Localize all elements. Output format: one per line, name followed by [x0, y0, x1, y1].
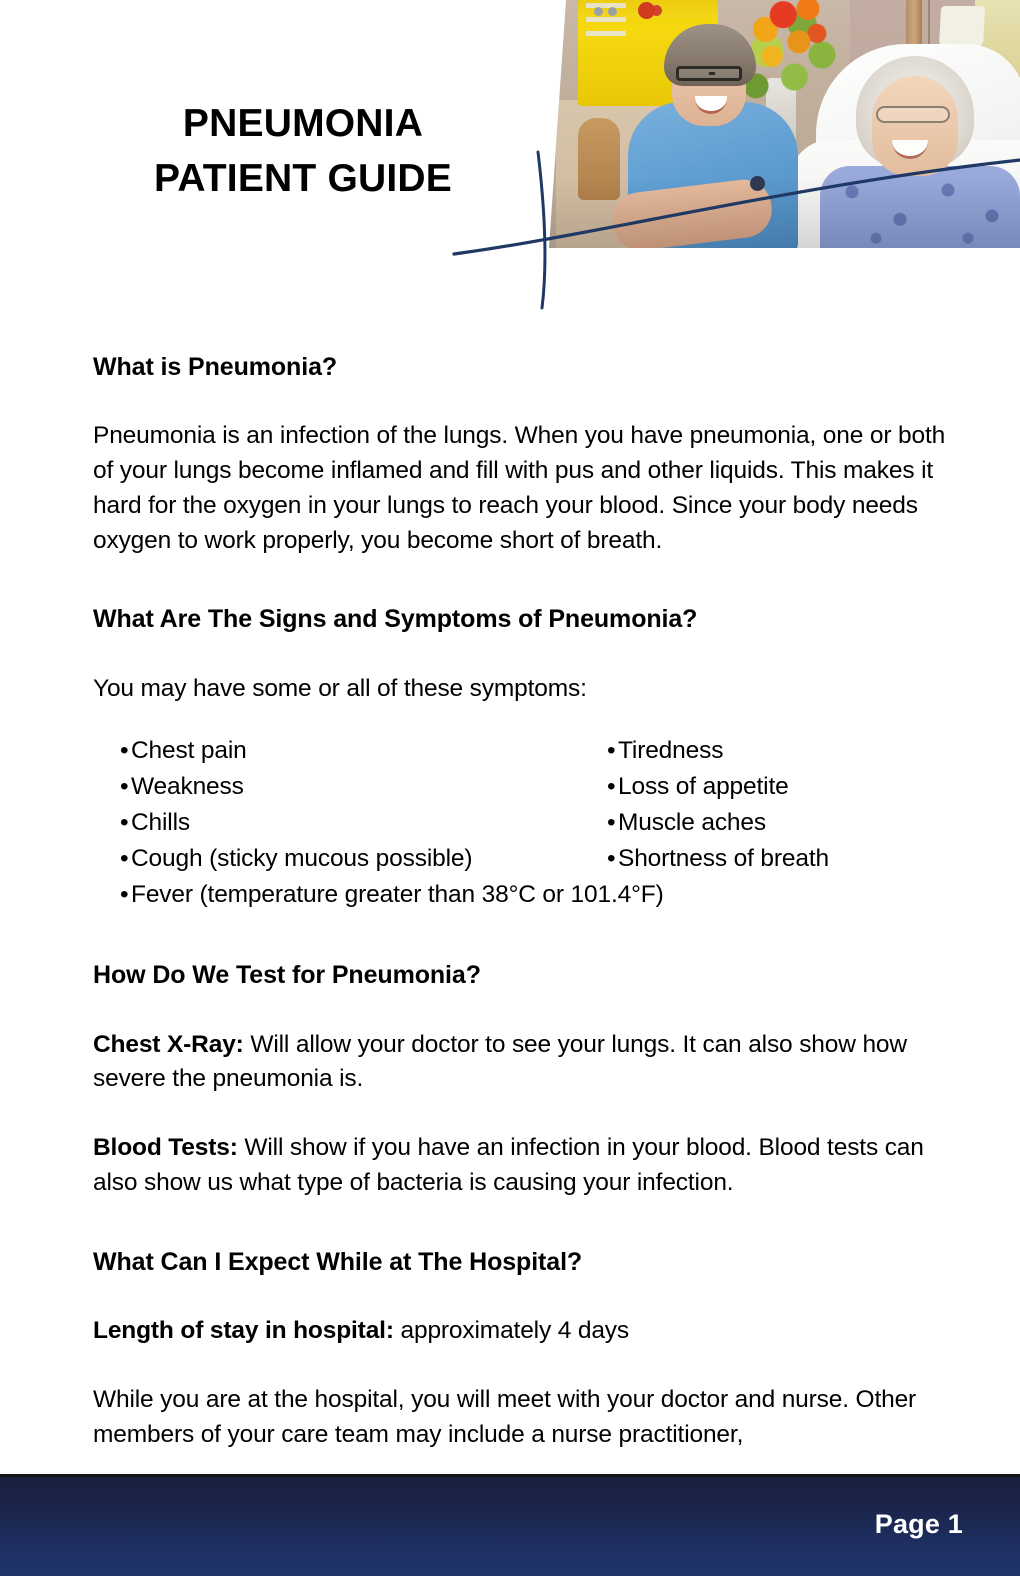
label-chest-xray: Chest X-Ray:: [93, 1031, 244, 1058]
paragraph-length-of-stay: Length of stay in hospital: approximatel…: [93, 1314, 961, 1349]
page-title-line-2: PATIENT GUIDE: [93, 151, 513, 206]
symptom-label: Loss of appetite: [618, 770, 789, 805]
symptom-label: Tiredness: [618, 734, 723, 769]
heading-signs-and-symptoms: What Are The Signs and Symptoms of Pneum…: [93, 604, 961, 635]
bullet-icon: •: [93, 734, 131, 769]
heading-how-do-we-test: How Do We Test for Pneumonia?: [93, 960, 961, 991]
bullet-icon: •: [580, 770, 618, 805]
symptom-label: Cough (sticky mucous possible): [131, 842, 472, 877]
symptom-label: Chest pain: [131, 734, 247, 769]
bullet-icon: •: [93, 842, 131, 877]
bullet-icon: •: [93, 806, 131, 841]
symptom-left-2: • Weakness: [93, 770, 580, 805]
symptom-left-4: • Cough (sticky mucous possible): [93, 842, 580, 877]
spacer: [93, 914, 961, 960]
symptom-label: Shortness of breath: [618, 842, 829, 877]
spacer: [93, 1278, 961, 1314]
list-item: • Chills • Muscle aches: [93, 806, 961, 842]
paragraph-blood-tests: Blood Tests: Will show if you have an in…: [93, 1131, 961, 1201]
spacer: [93, 706, 961, 734]
bullet-icon: •: [580, 842, 618, 877]
symptom-right-3: • Muscle aches: [580, 806, 961, 841]
photo-background: [520, 0, 1020, 248]
bullet-icon: •: [580, 734, 618, 769]
document-page: PNEUMONIA PATIENT GUIDE What is Pneumoni…: [0, 0, 1020, 1576]
page-number: Page 1: [875, 1509, 963, 1540]
spacer: [93, 1201, 961, 1247]
list-item: • Cough (sticky mucous possible) • Short…: [93, 842, 961, 878]
document-body: What is Pneumonia? Pneumonia is an infec…: [93, 352, 961, 1452]
spacer: [93, 558, 961, 604]
bullet-icon: •: [580, 806, 618, 841]
list-item: • Chest pain • Tiredness: [93, 734, 961, 770]
label-blood-tests: Blood Tests:: [93, 1134, 238, 1161]
paragraph-symptoms-intro: You may have some or all of these sympto…: [93, 672, 961, 707]
symptoms-list: • Chest pain • Tiredness • Weakness • Lo…: [93, 734, 961, 914]
value-length-of-stay: approximately 4 days: [394, 1317, 629, 1344]
photo-shading: [520, 0, 1020, 248]
heading-what-can-i-expect: What Can I Expect While at The Hospital?: [93, 1247, 961, 1278]
symptom-label: Chills: [131, 806, 190, 841]
bullet-icon: •: [93, 878, 131, 913]
paragraph-what-is-pneumonia: Pneumonia is an infection of the lungs. …: [93, 419, 961, 558]
spacer: [93, 383, 961, 419]
heading-what-is-pneumonia: What is Pneumonia?: [93, 352, 961, 383]
swoosh-vertical-line: [538, 152, 545, 308]
document-header: PNEUMONIA PATIENT GUIDE: [0, 0, 1020, 320]
page-footer: Page 1: [0, 1474, 1020, 1576]
page-title: PNEUMONIA PATIENT GUIDE: [93, 96, 513, 207]
bullet-icon: •: [93, 770, 131, 805]
list-item: • Weakness • Loss of appetite: [93, 770, 961, 806]
symptom-right-4: • Shortness of breath: [580, 842, 961, 877]
symptom-label: Muscle aches: [618, 806, 766, 841]
spacer: [93, 1097, 961, 1131]
symptom-label: Weakness: [131, 770, 244, 805]
label-length-of-stay: Length of stay in hospital:: [93, 1317, 394, 1344]
symptom-fever: • Fever (temperature greater than 38°C o…: [93, 878, 961, 913]
symptom-left-3: • Chills: [93, 806, 580, 841]
paragraph-chest-xray: Chest X-Ray: Will allow your doctor to s…: [93, 1028, 961, 1098]
spacer: [93, 992, 961, 1028]
symptom-left-1: • Chest pain: [93, 734, 580, 769]
symptom-right-2: • Loss of appetite: [580, 770, 961, 805]
list-item: • Fever (temperature greater than 38°C o…: [93, 878, 961, 914]
page-title-line-1: PNEUMONIA: [93, 96, 513, 151]
paragraph-care-team: While you are at the hospital, you will …: [93, 1383, 961, 1453]
symptom-right-1: • Tiredness: [580, 734, 961, 769]
spacer: [93, 1349, 961, 1383]
spacer: [93, 636, 961, 672]
header-photo: [520, 0, 1020, 248]
symptom-label: Fever (temperature greater than 38°C or …: [131, 878, 664, 913]
